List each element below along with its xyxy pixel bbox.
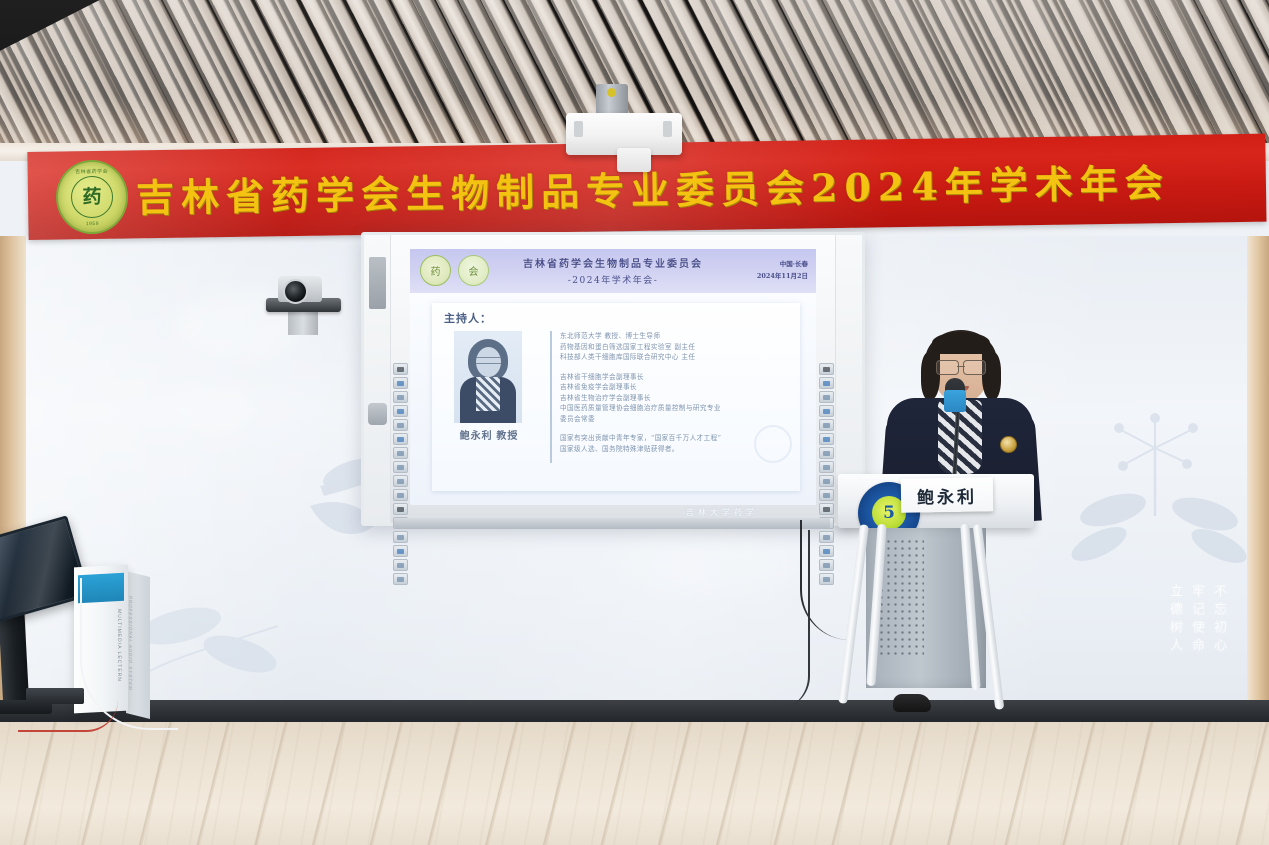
whiteboard-bottom-tray <box>394 518 830 529</box>
tool-pen-medium-icon-right[interactable] <box>819 461 834 473</box>
tool-eraser-icon-right[interactable] <box>819 503 834 515</box>
wood-floor <box>0 722 1269 845</box>
tool-highlighter-icon-right[interactable] <box>819 489 834 501</box>
slide-location-line: 中国·长春 <box>780 259 808 269</box>
portrait-scarf <box>476 377 500 411</box>
wall-calligraphy: 不忘初心 牢记使命 立德树人 <box>1163 584 1229 656</box>
bio-paragraph-societies: 吉林省干细胞学会副理事长 吉林省免疫学会副理事长 吉林省生物治疗学会副理事长 中… <box>560 372 790 425</box>
projector-vent-left <box>574 121 583 137</box>
tool-exit-icon[interactable] <box>393 573 408 585</box>
whiteboard-brand-logo <box>368 403 387 425</box>
slide-body: 主持人： 鲍永利 教授 东北师范大学 教授、博士生导师 药物基因和蛋白筛选国家工… <box>410 293 816 505</box>
slide-date-line: 2024年11月2日 <box>757 271 808 281</box>
floor-grain-texture <box>0 722 1269 845</box>
wall-glare-2 <box>175 386 255 434</box>
podium-perforation-pattern <box>878 538 924 656</box>
tool-settings-icon[interactable] <box>393 559 408 571</box>
nameplate-text: 鲍永利 <box>917 482 977 508</box>
camera-wall-bracket <box>288 309 318 335</box>
glasses-lens-left <box>936 360 959 375</box>
glasses-lens-right <box>963 360 986 375</box>
tool-camera-icon-right[interactable] <box>819 405 834 417</box>
speaker-hair-fringe <box>932 332 990 354</box>
projector-mount-bolt <box>607 88 616 97</box>
seal-year: 1959 <box>58 221 126 228</box>
wall-skirting-board <box>0 700 1269 722</box>
carton-front-text: MULTIMEDIA LECTERN <box>80 609 122 684</box>
tool-undo-icon[interactable] <box>393 391 408 403</box>
carton-blue-label <box>78 573 124 603</box>
projected-slide: 药 会 吉林省药学会生物制品专业委员会 -2024年学术年会- 中国·长春 20… <box>410 249 816 505</box>
speaker-lapel-pin-icon <box>1000 436 1017 453</box>
tool-pen-medium-icon[interactable] <box>393 461 408 473</box>
tool-select-icon[interactable] <box>393 363 408 375</box>
slide-header-band: 药 会 吉林省药学会生物制品专业委员会 -2024年学术年会- 中国·长春 20… <box>410 249 816 293</box>
wall-plant-decor-right <box>1055 386 1269 586</box>
tool-pen-thin-icon[interactable] <box>393 447 408 459</box>
portrait-glasses-icon <box>476 357 501 364</box>
tool-screen-icon[interactable] <box>393 377 408 389</box>
projector-vent-right <box>663 121 672 137</box>
carton-side-text: PROFESSIONAL AUDIO SYSTEM <box>128 595 133 691</box>
whiteboard-pen-holder[interactable] <box>369 257 386 309</box>
tool-select-icon-right[interactable] <box>819 363 834 375</box>
tool-screen-icon-right[interactable] <box>819 377 834 389</box>
projector-lens-housing <box>617 148 651 172</box>
speaker-portrait-photo <box>454 331 522 423</box>
tool-eraser-icon[interactable] <box>393 503 408 515</box>
tool-camera-icon[interactable] <box>393 405 408 417</box>
tool-save-icon[interactable] <box>393 545 408 557</box>
seal-ring-top-text: 吉林省药学会 <box>58 168 126 176</box>
tool-undo-icon-right[interactable] <box>819 391 834 403</box>
power-cable-wall <box>776 530 810 710</box>
slide-content-card: 主持人： 鲍永利 教授 东北师范大学 教授、博士生导师 药物基因和蛋白筛选国家工… <box>432 303 800 491</box>
tool-text-icon[interactable] <box>393 531 408 543</box>
camera-lens-icon <box>283 279 308 304</box>
wall-trim-right <box>1247 236 1269 722</box>
slide-header-subtitle: -2024年学术年会- <box>410 273 816 286</box>
tool-page-icon[interactable] <box>393 419 408 431</box>
speaker-nameplate: 鲍永利 <box>901 477 994 513</box>
slide-speaker-caption: 鲍永利 教授 <box>444 427 534 442</box>
association-seal-icon: 吉林省药学会 药 1959 <box>55 160 128 235</box>
tool-pen-thick-icon[interactable] <box>393 475 408 487</box>
slide-header-title: 吉林省药学会生物制品专业委员会 <box>410 255 816 270</box>
tool-highlighter-icon[interactable] <box>393 489 408 501</box>
slide-section-label: 主持人： <box>444 310 492 326</box>
seal-center-glyph: 药 <box>71 176 114 219</box>
bio-paragraph-affiliations: 东北师范大学 教授、博士生导师 药物基因和蛋白筛选国家工程实验室 副主任 科技部… <box>560 331 790 363</box>
slide-watermark-icon <box>754 425 792 463</box>
tool-grid-icon[interactable] <box>393 433 408 445</box>
wall-glare-3 <box>620 536 800 596</box>
speaker-shoe <box>893 694 931 712</box>
interactive-whiteboard[interactable]: 药 会 吉林省药学会生物制品专业委员会 -2024年学术年会- 中国·长春 20… <box>361 232 865 526</box>
speaker-glasses-icon <box>936 360 986 373</box>
tool-grid-icon-right[interactable] <box>819 433 834 445</box>
tool-page-icon-right[interactable] <box>819 419 834 431</box>
tool-pen-thick-icon-right[interactable] <box>819 475 834 487</box>
whiteboard-toolbar-left[interactable] <box>392 363 408 585</box>
whiteboard-bezel-left <box>364 235 391 523</box>
tool-pen-thin-icon-right[interactable] <box>819 447 834 459</box>
microphone-flag-badge <box>944 390 966 412</box>
conference-photo-scene: 不忘初心 牢记使命 立德树人 吉林省药学会 药 1959 吉林省药学会生物制品专… <box>0 0 1269 845</box>
